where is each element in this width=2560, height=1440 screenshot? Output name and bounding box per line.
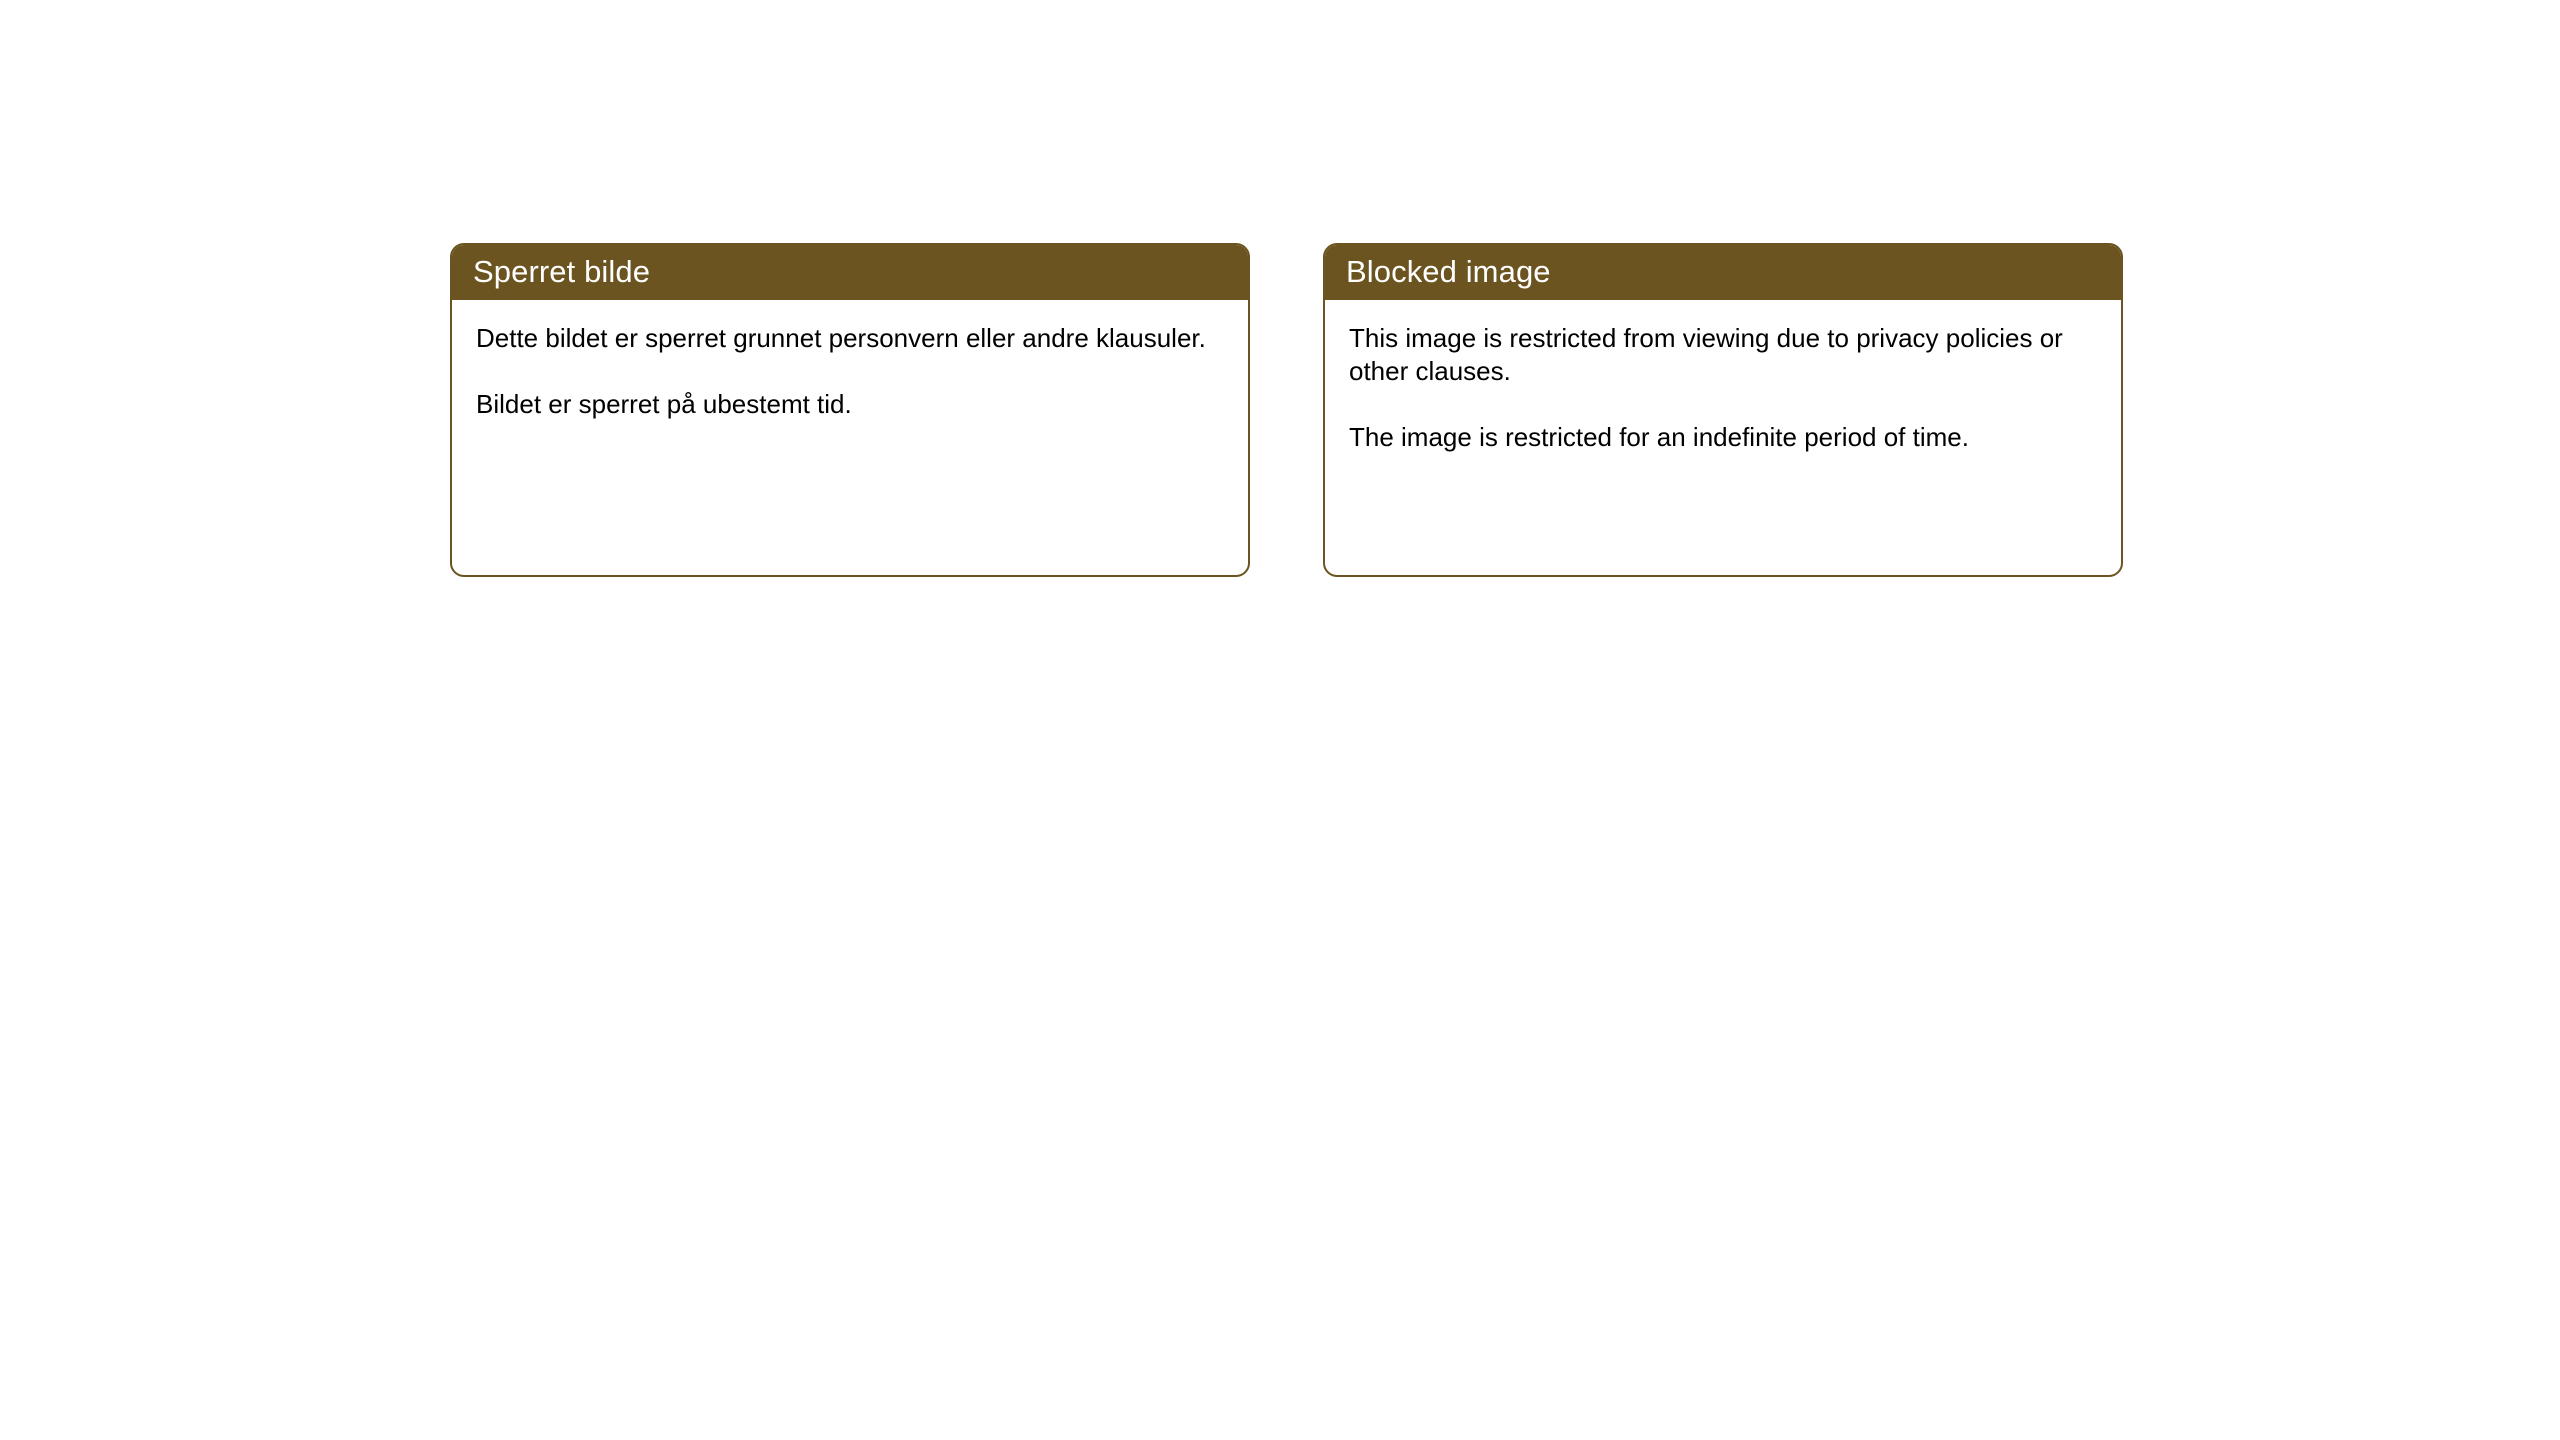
card-header-norwegian: Sperret bilde: [451, 244, 1249, 300]
notice-paragraph: This image is restricted from viewing du…: [1349, 322, 2079, 388]
card-title-english: Blocked image: [1346, 254, 1551, 290]
card-title-norwegian: Sperret bilde: [473, 254, 650, 290]
blocked-image-notice-english: Blocked image This image is restricted f…: [1323, 243, 2123, 577]
card-header-english: Blocked image: [1324, 244, 2122, 300]
page-root: Sperret bilde Dette bildet er sperret gr…: [0, 0, 2560, 1440]
notice-paragraph: Bildet er sperret på ubestemt tid.: [476, 388, 1206, 421]
blocked-image-notice-norwegian: Sperret bilde Dette bildet er sperret gr…: [450, 243, 1250, 577]
card-body-norwegian: Dette bildet er sperret grunnet personve…: [452, 300, 1248, 441]
notice-paragraph: The image is restricted for an indefinit…: [1349, 421, 2079, 454]
card-body-english: This image is restricted from viewing du…: [1325, 300, 2121, 474]
notice-paragraph: Dette bildet er sperret grunnet personve…: [476, 322, 1206, 355]
